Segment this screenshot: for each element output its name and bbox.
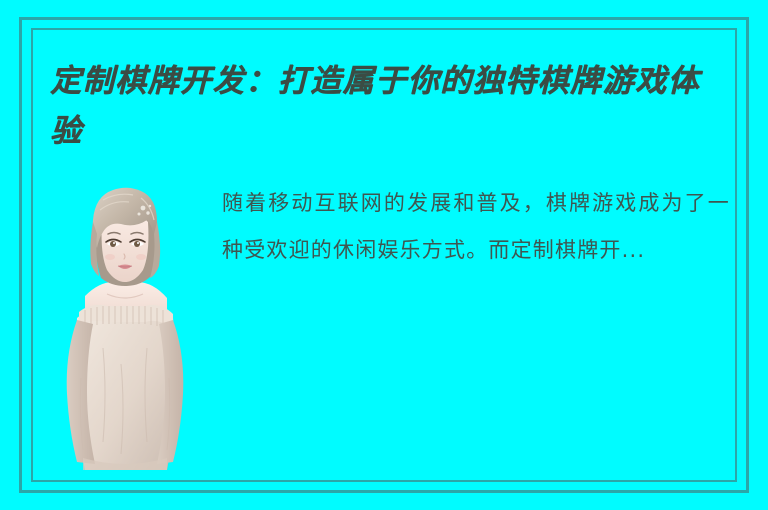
article-content: 随着移动互联网的发展和普及，棋牌游戏成为了一种受欢迎的休闲娱乐方式。而定制棋牌开…	[50, 176, 728, 478]
woman-illustration-graphic	[55, 178, 195, 474]
article-body: 随着移动互联网的发展和普及，棋牌游戏成为了一种受欢迎的休闲娱乐方式。而定制棋牌开…	[222, 180, 730, 274]
article-card: 定制棋牌开发：打造属于你的独特棋牌游戏体验	[0, 0, 768, 510]
article-illustration	[55, 178, 195, 474]
page-title: 定制棋牌开发：打造属于你的独特棋牌游戏体验	[50, 56, 730, 156]
